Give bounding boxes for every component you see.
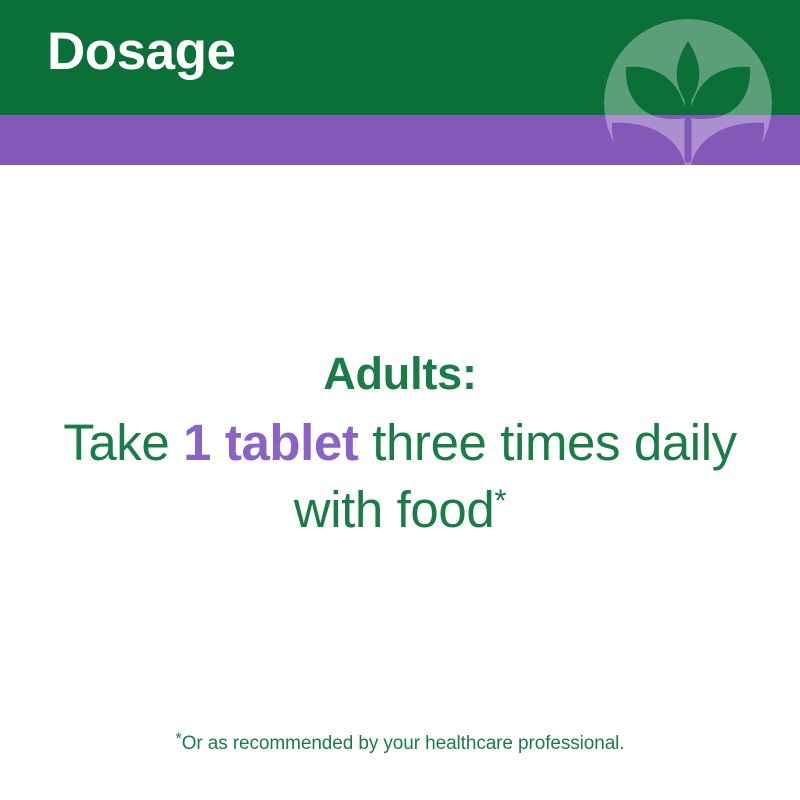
footnote-marker-icon: * [494,482,506,518]
instruction-trail: three times daily with food [294,414,737,538]
footnote-text: Or as recommended by your healthcare pro… [182,733,625,754]
accent-bar [0,115,800,165]
page-title: Dosage [47,23,235,80]
instruction-lead: Take [63,414,183,471]
dosage-instruction: Take 1 tablet three times daily with foo… [0,409,800,544]
dosage-panel: Dosage [0,0,800,800]
footnote: *Or as recommended by your healthcare pr… [0,733,800,755]
header-band: Dosage [0,0,800,115]
dose-amount: 1 tablet [183,414,358,471]
dosage-content: Adults: Take 1 tablet three times daily … [0,348,800,543]
dosage-heading: Adults: [0,348,800,400]
